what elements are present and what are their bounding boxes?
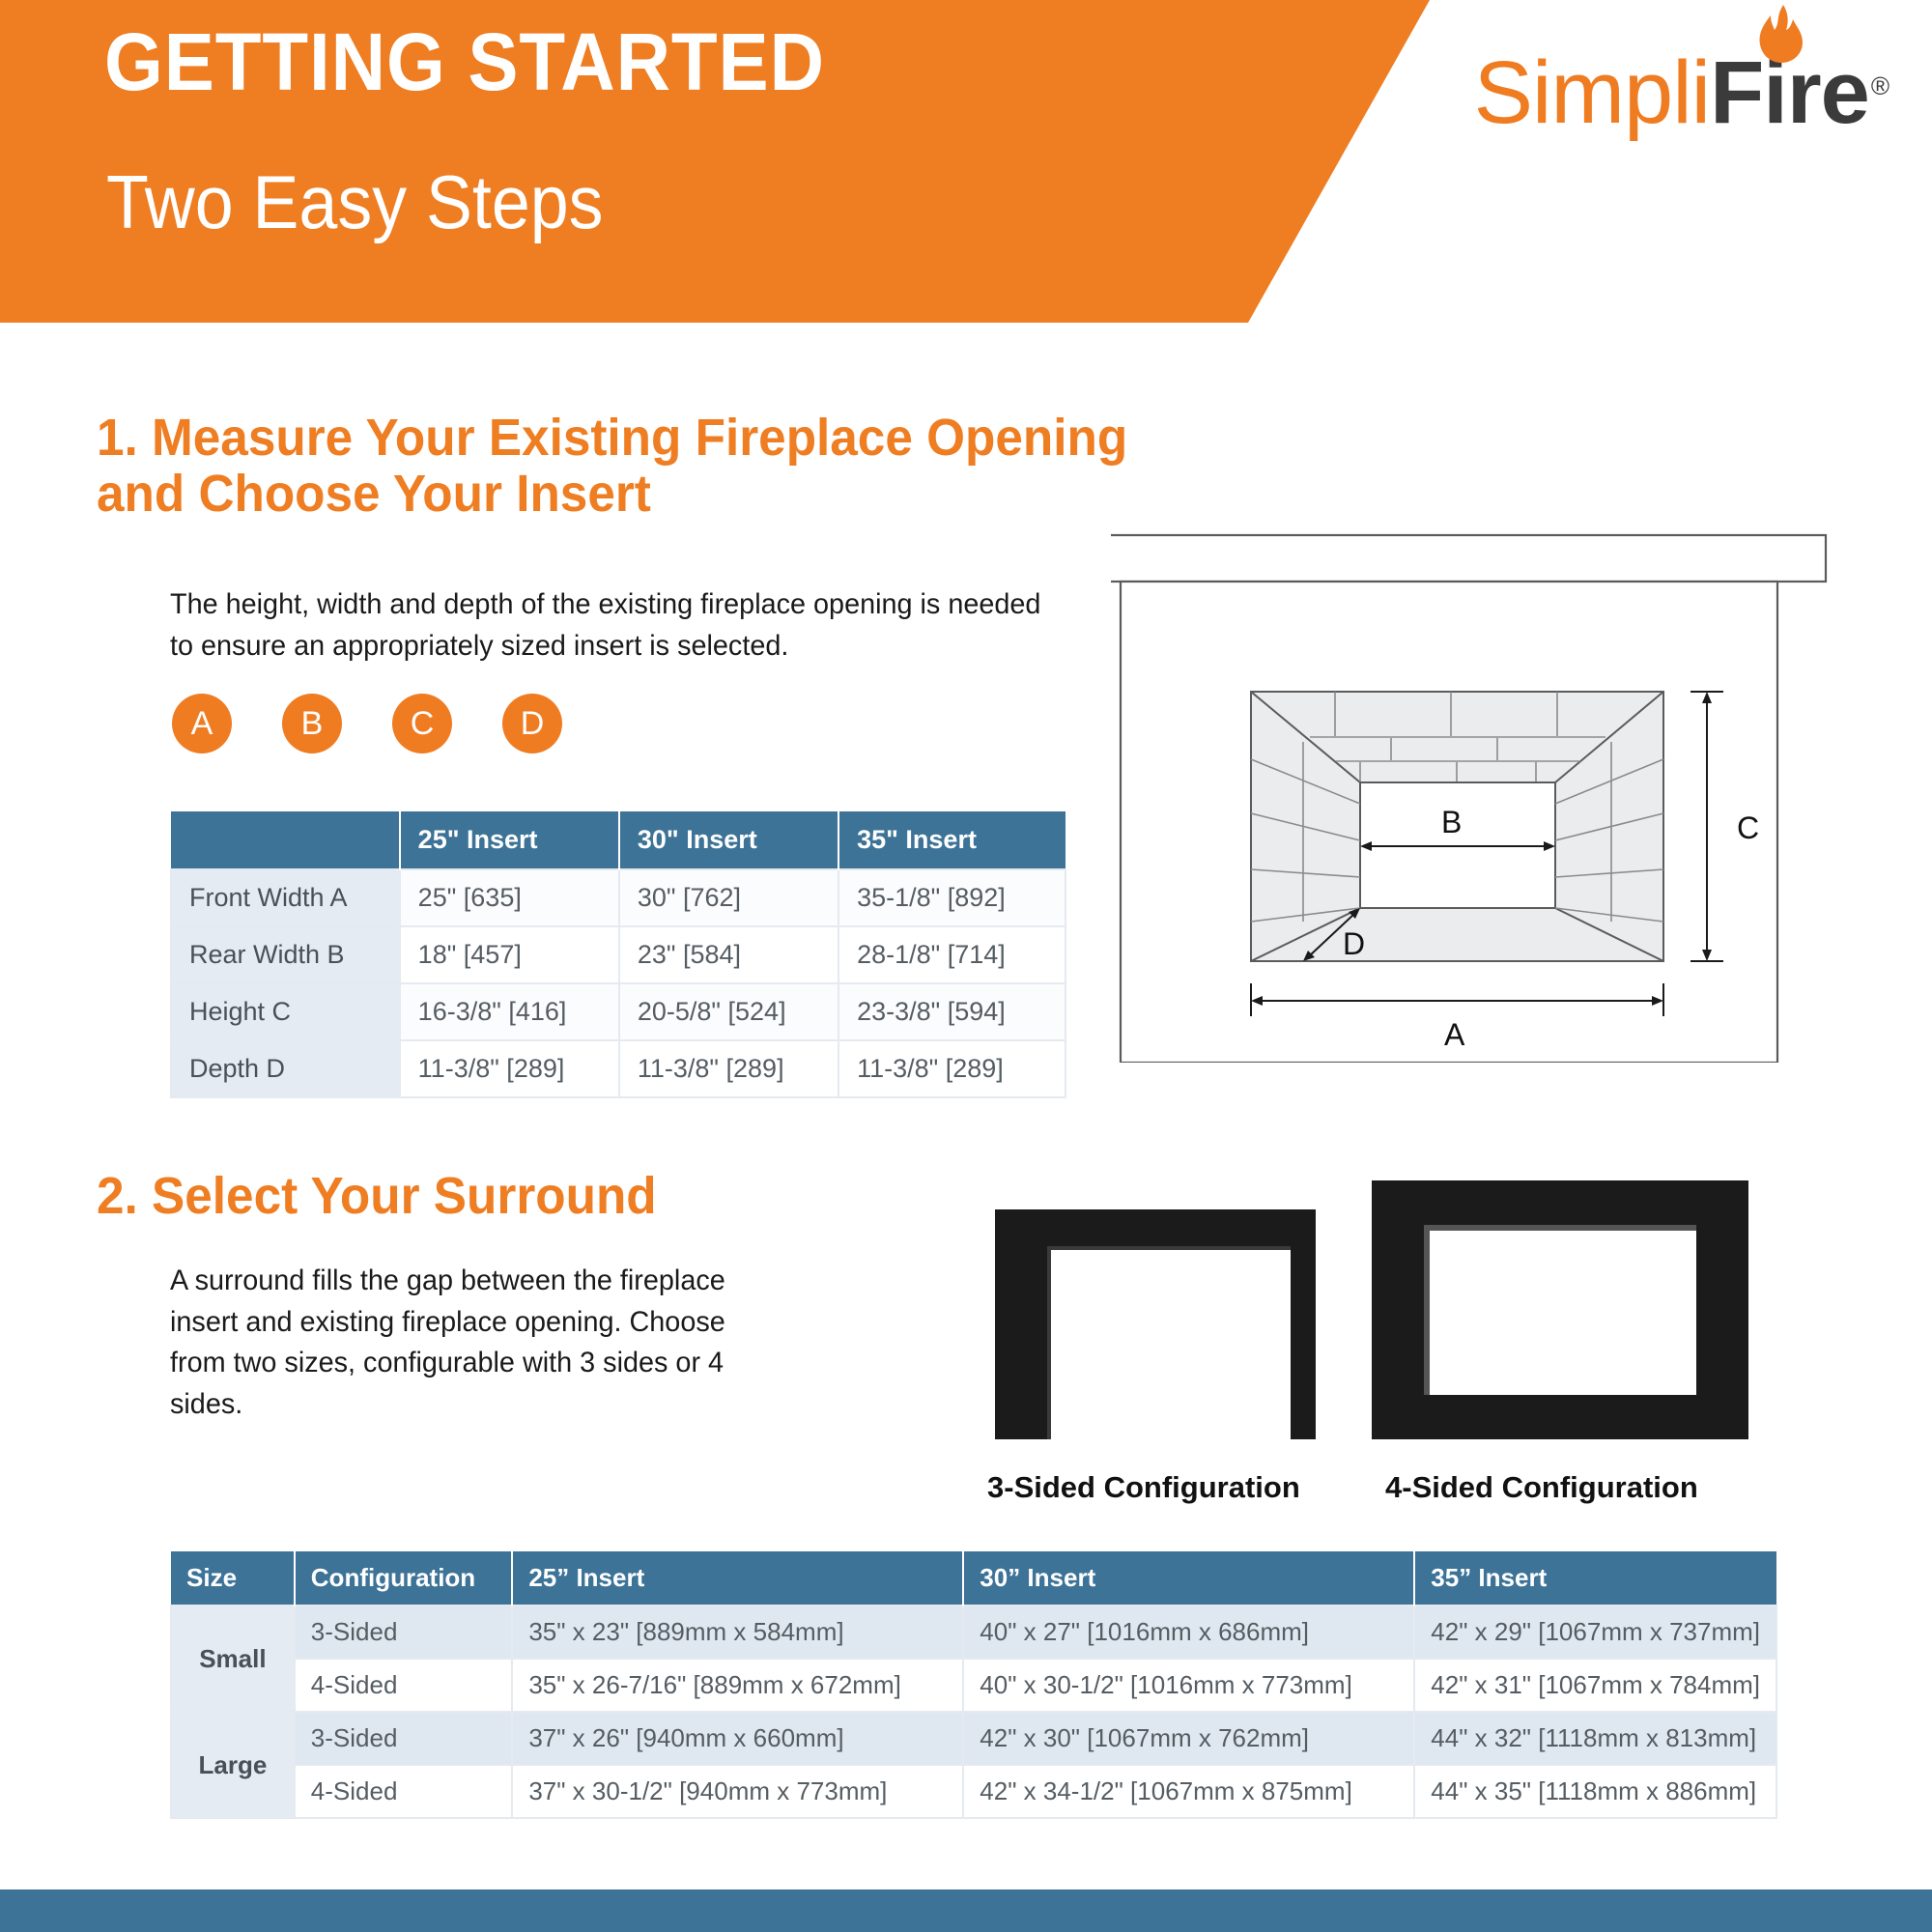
badge-a: A — [172, 694, 232, 753]
step1-heading: 1. Measure Your Existing Fireplace Openi… — [97, 411, 1179, 523]
config-large-3sided: 3-Sided — [295, 1712, 513, 1765]
badge-c: C — [392, 694, 452, 753]
config-small-4sided: 4-Sided — [295, 1659, 513, 1712]
table-row: 4-Sided 37" x 30-1/2" [940mm x 773mm] 42… — [171, 1765, 1776, 1818]
config-small-3sided: 3-Sided — [295, 1605, 513, 1659]
diagram-label-a: A — [1444, 1017, 1465, 1052]
page-title: GETTING STARTED — [104, 21, 825, 102]
col-header-35: 35” Insert — [1414, 1551, 1776, 1605]
surround-3-sided-image — [995, 1209, 1316, 1439]
cell-depth-35: 11-3/8" [289] — [838, 1040, 1065, 1097]
cell-large-3sided-25: 37" x 26" [940mm x 660mm] — [512, 1712, 963, 1765]
cell-front-width-30: 30" [762] — [619, 869, 838, 926]
col-header-25: 25” Insert — [512, 1551, 963, 1605]
footer-band — [0, 1889, 1932, 1932]
cell-rear-width-35: 28-1/8" [714] — [838, 926, 1065, 983]
step2-heading: 2. Select Your Surround — [97, 1169, 923, 1225]
registered-mark: ® — [1871, 73, 1889, 99]
table-row: 4-Sided 35" x 26-7/16" [889mm x 672mm] 4… — [171, 1659, 1776, 1712]
cell-rear-width-25: 18" [457] — [400, 926, 619, 983]
step1-body-text: The height, width and depth of the exist… — [170, 584, 1061, 667]
cell-rear-width-30: 23" [584] — [619, 926, 838, 983]
surround-sizes-table: Size Configuration 25” Insert 30” Insert… — [170, 1551, 1777, 1819]
badge-b: B — [282, 694, 342, 753]
table-row: Small 3-Sided 35" x 23" [889mm x 584mm] … — [171, 1605, 1776, 1659]
config-large-4sided: 4-Sided — [295, 1765, 513, 1818]
col-header-size: Size — [171, 1551, 295, 1605]
col-header-30: 30” Insert — [963, 1551, 1414, 1605]
surround-4-sided-image — [1372, 1180, 1748, 1439]
row-label-depth: Depth D — [171, 1040, 400, 1097]
cell-height-25: 16-3/8" [416] — [400, 983, 619, 1040]
cell-height-35: 23-3/8" [594] — [838, 983, 1065, 1040]
flame-icon — [1754, 4, 1806, 64]
step2-body-text: A surround fills the gap between the fir… — [170, 1261, 745, 1425]
cell-large-3sided-30: 42" x 30" [1067mm x 762mm] — [963, 1712, 1414, 1765]
table-row: Depth D 11-3/8" [289] 11-3/8" [289] 11-3… — [171, 1040, 1065, 1097]
cell-small-4sided-35: 42" x 31" [1067mm x 784mm] — [1414, 1659, 1776, 1712]
row-label-rear-width: Rear Width B — [171, 926, 400, 983]
diagram-label-b: B — [1441, 805, 1462, 839]
row-label-height: Height C — [171, 983, 400, 1040]
row-label-front-width: Front Width A — [171, 869, 400, 926]
insert-dimensions-table: 25" Insert 30" Insert 35" Insert Front W… — [170, 811, 1066, 1098]
cell-small-3sided-30: 40" x 27" [1016mm x 686mm] — [963, 1605, 1414, 1659]
cell-small-3sided-35: 42" x 29" [1067mm x 737mm] — [1414, 1605, 1776, 1659]
logo-text-fire: Fire — [1710, 48, 1869, 137]
table-row: Rear Width B 18" [457] 23" [584] 28-1/8"… — [171, 926, 1065, 983]
surround-4-sided-caption: 4-Sided Configuration — [1385, 1470, 1698, 1505]
size-label-large: Large — [171, 1712, 295, 1818]
col-header-configuration: Configuration — [295, 1551, 513, 1605]
cell-depth-25: 11-3/8" [289] — [400, 1040, 619, 1097]
cell-small-4sided-25: 35" x 26-7/16" [889mm x 672mm] — [512, 1659, 963, 1712]
cell-large-4sided-25: 37" x 30-1/2" [940mm x 773mm] — [512, 1765, 963, 1818]
surround-3-sided-caption: 3-Sided Configuration — [987, 1470, 1300, 1505]
badge-d: D — [502, 694, 562, 753]
col-header-35: 35" Insert — [838, 811, 1065, 869]
fireplace-diagram: C B A D — [1111, 522, 1922, 1063]
cell-large-4sided-35: 44" x 35" [1118mm x 886mm] — [1414, 1765, 1776, 1818]
diagram-label-c: C — [1737, 810, 1759, 845]
cell-small-3sided-25: 35" x 23" [889mm x 584mm] — [512, 1605, 963, 1659]
cell-height-30: 20-5/8" [524] — [619, 983, 838, 1040]
table-header-row: Size Configuration 25” Insert 30” Insert… — [171, 1551, 1776, 1605]
cell-depth-30: 11-3/8" [289] — [619, 1040, 838, 1097]
col-header-30: 30" Insert — [619, 811, 838, 869]
col-header-25: 25" Insert — [400, 811, 619, 869]
cell-front-width-35: 35-1/8" [892] — [838, 869, 1065, 926]
diagram-label-d: D — [1343, 926, 1365, 961]
table-row: Front Width A 25" [635] 30" [762] 35-1/8… — [171, 869, 1065, 926]
cell-small-4sided-30: 40" x 30-1/2" [1016mm x 773mm] — [963, 1659, 1414, 1712]
simplifire-logo: SimpliFire® — [1474, 31, 1888, 137]
cell-large-4sided-30: 42" x 34-1/2" [1067mm x 875mm] — [963, 1765, 1414, 1818]
page-subtitle: Two Easy Steps — [106, 164, 604, 240]
col-header-blank — [171, 811, 400, 869]
surround-illustrations — [976, 1159, 1777, 1449]
size-label-small: Small — [171, 1605, 295, 1712]
cell-large-3sided-35: 44" x 32" [1118mm x 813mm] — [1414, 1712, 1776, 1765]
table-row: Large 3-Sided 37" x 26" [940mm x 660mm] … — [171, 1712, 1776, 1765]
measurement-badges: A B C D — [172, 694, 562, 753]
table-row: Height C 16-3/8" [416] 20-5/8" [524] 23-… — [171, 983, 1065, 1040]
logo-text-simpli: Simpli — [1474, 48, 1710, 137]
table-header-row: 25" Insert 30" Insert 35" Insert — [171, 811, 1065, 869]
cell-front-width-25: 25" [635] — [400, 869, 619, 926]
